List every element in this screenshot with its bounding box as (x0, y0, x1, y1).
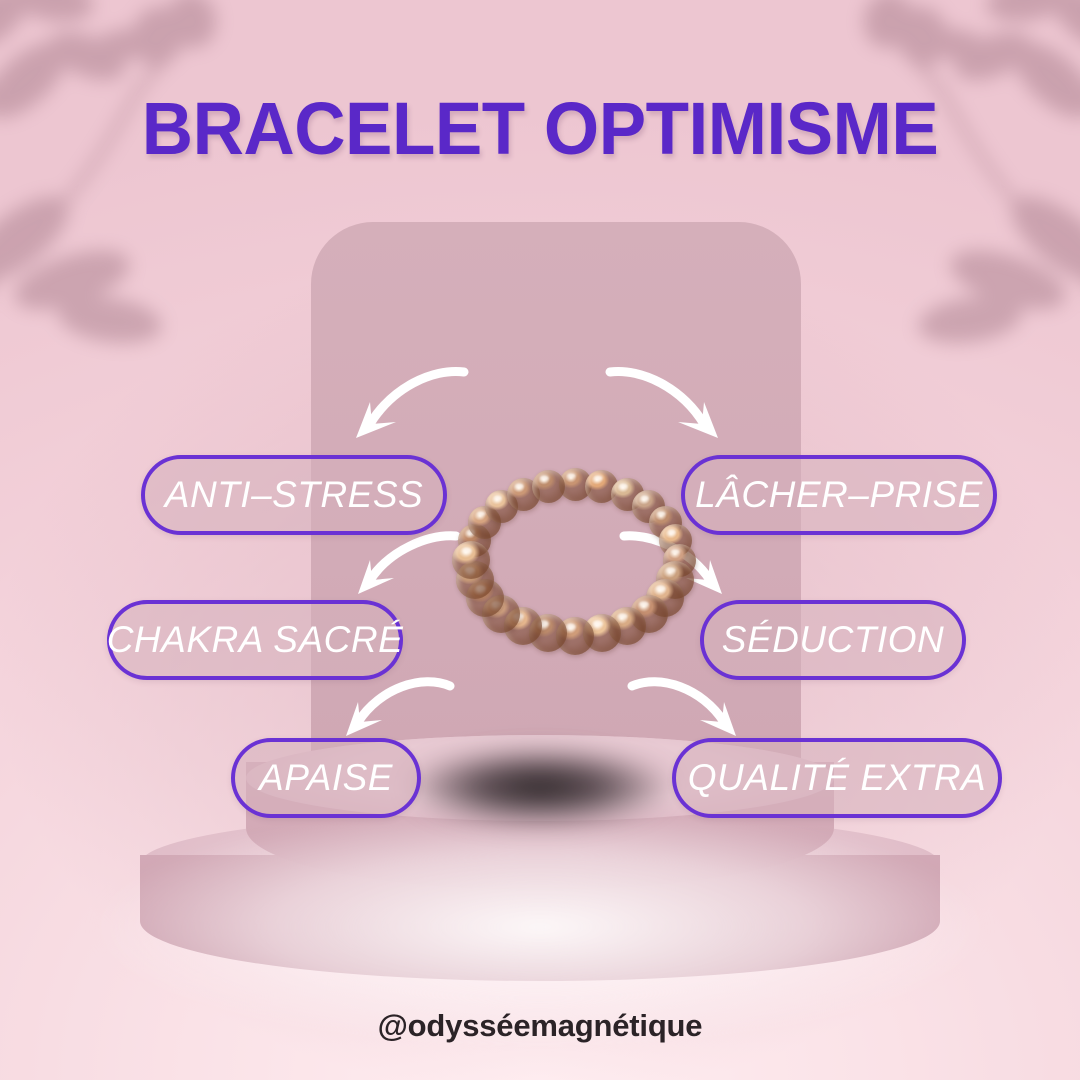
badge-lacher-prise[interactable]: LÂCHER–PRISE (681, 455, 997, 535)
badge-seduction[interactable]: SÉDUCTION (700, 600, 966, 680)
poster-canvas: BRACELET OPTIMISME (0, 0, 1080, 1080)
brand-handle: @odysséemagnétique (0, 1008, 1080, 1044)
badge-qualite-extra[interactable]: QUALITÉ EXTRA (672, 738, 1002, 818)
badge-chakra-sacre[interactable]: CHAKRA SACRÉ (107, 600, 403, 680)
badge-label: SÉDUCTION (722, 619, 944, 661)
badge-label: ANTI–STRESS (165, 474, 423, 516)
badge-label: APAISE (259, 757, 393, 799)
page-title: BRACELET OPTIMISME (22, 86, 1059, 171)
badge-anti-stress[interactable]: ANTI–STRESS (141, 455, 447, 535)
badge-label: CHAKRA SACRÉ (107, 619, 404, 661)
badge-label: LÂCHER–PRISE (695, 474, 983, 516)
product-bracelet (455, 462, 695, 658)
badge-label: QUALITÉ EXTRA (688, 757, 986, 799)
badge-apaise[interactable]: APAISE (231, 738, 421, 818)
bracelet-bead (452, 541, 490, 579)
product-drop-shadow (375, 738, 705, 836)
bracelet-bead (532, 470, 565, 503)
